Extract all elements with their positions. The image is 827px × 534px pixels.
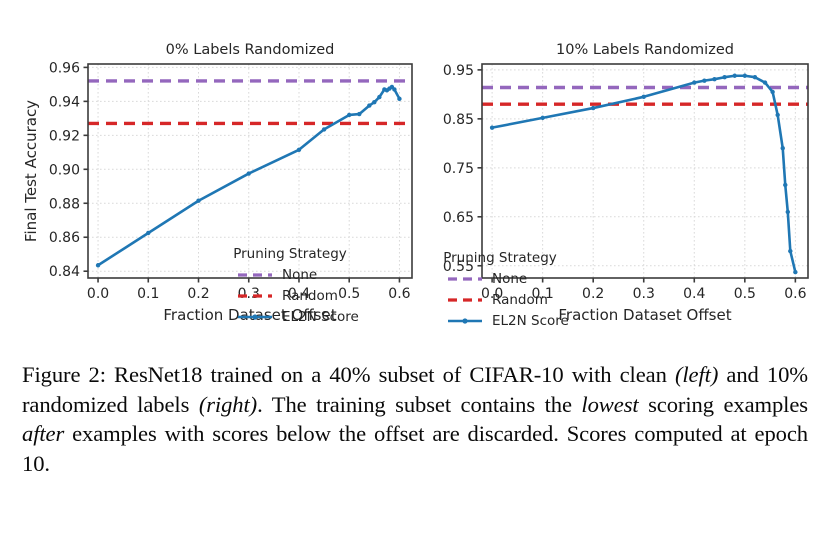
caption-segment-3: (right) (199, 392, 257, 417)
ytick-label-left-1: 0.86 (49, 230, 80, 246)
xtick-label-left-2: 0.2 (187, 286, 209, 302)
caption-segment-0: Figure 2: ResNet18 trained on a 40% subs… (22, 362, 675, 387)
caption-segment-1: (left) (675, 362, 718, 387)
chart-title-left: 0% Labels Randomized (166, 42, 335, 58)
plots-row: 0% Labels Randomized0.00.10.20.30.40.50.… (0, 40, 827, 340)
legend-entry-right-el2n-score: EL2N Score (492, 313, 569, 329)
xtick-label-left-0: 0.0 (87, 286, 109, 302)
legend-title-right: Pruning Strategy (443, 250, 557, 266)
xtick-label-left-3: 0.3 (238, 286, 260, 302)
caption-segment-4: . The training subset contains the (257, 392, 581, 417)
ytick-label-left-5: 0.94 (49, 94, 80, 110)
legend-entry-right-random: Random (492, 292, 548, 308)
xtick-label-right-3: 0.3 (633, 286, 655, 302)
ytick-label-left-6: 0.96 (49, 60, 80, 76)
ytick-label-left-0: 0.84 (49, 264, 80, 280)
chart-panel-left: 0% Labels Randomized0.00.10.20.30.40.50.… (10, 40, 420, 340)
xtick-label-right-4: 0.4 (683, 286, 705, 302)
xtick-label-right-6: 0.6 (784, 286, 806, 302)
xtick-label-right-5: 0.5 (734, 286, 756, 302)
caption-segment-6: scoring examples (639, 392, 808, 417)
chart-panel-right: 10% Labels Randomized0.00.10.20.30.40.50… (420, 40, 820, 340)
legend-title-left: Pruning Strategy (233, 246, 347, 262)
ytick-label-right-1: 0.65 (443, 210, 474, 226)
legend-entry-left-none: None (282, 267, 317, 283)
figure-caption: Figure 2: ResNet18 trained on a 40% subs… (22, 360, 808, 478)
legend-entry-left-random: Random (282, 288, 338, 304)
legend-entry-right-none: None (492, 271, 527, 287)
ytick-label-left-4: 0.92 (49, 128, 80, 144)
xtick-label-left-5: 0.5 (338, 286, 360, 302)
ytick-label-right-2: 0.75 (443, 161, 474, 177)
figure-2-container: 0% Labels Randomized0.00.10.20.30.40.50.… (0, 0, 827, 534)
xtick-label-left-6: 0.6 (388, 286, 410, 302)
chart-title-right: 10% Labels Randomized (556, 42, 734, 58)
caption-segment-7: after (22, 421, 64, 446)
chart-svg-right: 10% Labels Randomized0.00.10.20.30.40.50… (420, 40, 820, 340)
ytick-label-right-4: 0.95 (443, 63, 474, 79)
ytick-label-right-3: 0.85 (443, 112, 474, 128)
xtick-label-left-1: 0.1 (137, 286, 159, 302)
chart-svg-left: 0% Labels Randomized0.00.10.20.30.40.50.… (10, 40, 420, 340)
xtick-label-right-2: 0.2 (582, 286, 604, 302)
legend-entry-left-el2n-score: EL2N Score (282, 309, 359, 325)
ytick-label-left-2: 0.88 (49, 196, 80, 212)
xaxis-label-right: Fraction Dataset Offset (558, 306, 731, 324)
ytick-label-left-3: 0.90 (49, 162, 80, 178)
caption-segment-5: lowest (581, 392, 638, 417)
yaxis-label-left: Final Test Accuracy (22, 100, 40, 242)
caption-segment-8: examples with scores below the offset ar… (22, 421, 808, 476)
